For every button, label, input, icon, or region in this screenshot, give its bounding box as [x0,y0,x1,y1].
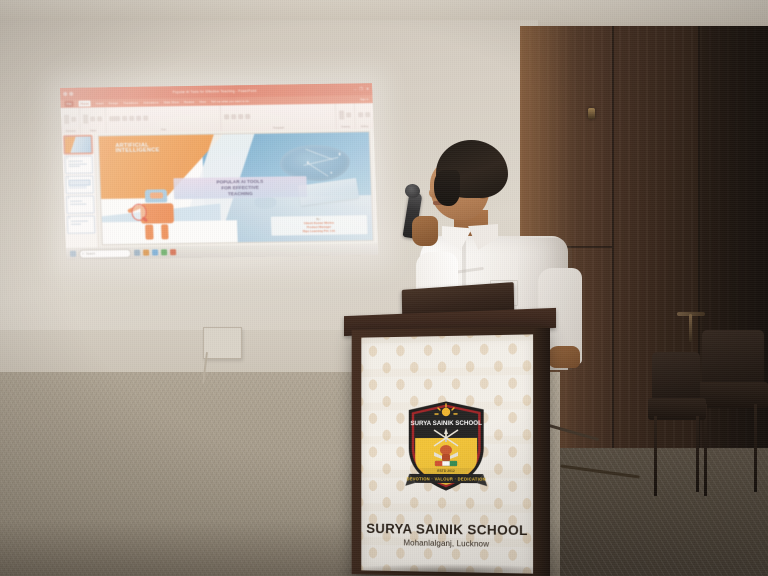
shape-fill-icon[interactable] [346,112,351,117]
powerpoint-icon[interactable] [170,249,176,255]
share-button[interactable]: Sign in [360,97,369,101]
crest-motto-text: DEVOTION · VALOUR · DEDICATION [407,476,486,481]
slide-thumbnail[interactable]: 4 [66,195,95,213]
underline-icon[interactable] [143,116,148,121]
slide-headline-line3: TEACHING [177,190,304,198]
ribbon-group-editing[interactable]: Editing [355,103,374,129]
tab-home[interactable]: Home [78,101,90,107]
replace-icon[interactable] [365,112,370,117]
podium-side [532,328,550,576]
presenter-left-hand [412,216,438,246]
ribbon-group-paragraph[interactable]: Paragraph [221,104,337,132]
slide-thumbnail-panel[interactable]: 1 2 3 4 5 [62,133,99,247]
slide-headline-box: POPULAR AI TOOLS FOR EFFECTIVE TEACHING [173,176,307,199]
slide-title: ARTIFICIAL INTELLIGENCE [115,143,159,155]
ribbon-group-label: Editing [359,125,371,128]
search-input[interactable]: ⌕ Search [79,248,131,258]
reset-icon[interactable] [97,116,102,121]
excel-icon[interactable] [161,249,167,255]
podium-floor-shadow [334,564,564,576]
tab-insert[interactable]: Insert [96,101,104,105]
slide-number: 1 [66,138,67,140]
slide-title-line2: INTELLIGENCE [115,149,159,156]
shapes-icon[interactable] [339,111,344,120]
search-icon: ⌕ [82,252,84,256]
chair [648,352,708,502]
wall-rail-bracket [689,314,692,342]
podium: SURYA SAINIK SCHOOL ESTD [344,300,556,576]
explorer-icon[interactable] [143,250,149,256]
tab-review[interactable]: Review [184,100,194,104]
ribbon-group-label: Clipboard [65,130,77,133]
crest-school-text: SURYA SAINIK SCHOOL [411,420,483,427]
tab-design[interactable]: Design [109,101,119,105]
slide-thumbnail[interactable]: 2 [64,155,93,173]
tab-file[interactable]: File [64,101,73,107]
minimize-icon[interactable]: – [354,87,356,91]
school-crest-svg: SURYA SAINIK SCHOOL ESTD [404,400,488,493]
font-size-box[interactable] [122,116,127,121]
slide-number: 4 [68,198,69,200]
podium-banner: SURYA SAINIK SCHOOL ESTD [361,334,533,573]
italic-icon[interactable] [136,116,141,121]
podium-school-name: SURYA SAINIK SCHOOL [361,521,533,538]
slide-thumbnail[interactable]: 3 [65,175,94,193]
slide-credit-box: By:- Udesh Kumar Mishra Product Manager … [271,216,367,236]
tab-animations[interactable]: Animations [143,100,158,104]
powerpoint-body: 1 2 3 4 5 [62,129,378,248]
tab-transitions[interactable]: Transitions [123,101,138,105]
ribbon-group-drawing[interactable]: Drawing [336,103,356,129]
ribbon-group-label: Slides [84,129,103,132]
ribbon-group-font[interactable]: Font [106,105,222,133]
current-slide[interactable]: ARTIFICIAL INTELLIGENCE [98,131,374,245]
layout-icon[interactable] [90,116,95,121]
numbering-icon[interactable] [231,114,236,119]
ribbon-group-clipboard[interactable]: Clipboard [61,108,81,134]
edge-icon[interactable] [152,249,158,255]
taskview-icon[interactable] [134,250,140,256]
school-crest: SURYA SAINIK SCHOOL ESTD [404,400,488,493]
paste-icon[interactable] [64,115,69,124]
search-placeholder: Search [86,251,95,255]
slide-number: 3 [67,178,68,180]
slide-number: 2 [67,158,68,160]
ribbon-group-slides[interactable]: Slides [80,107,107,133]
powerpoint-window[interactable]: Popular AI Tools for Effective Teaching … [60,83,378,260]
slide-number: 5 [69,218,70,220]
crest-established-text: ESTD 2012 [437,469,455,473]
door-handle-icon[interactable] [588,108,595,119]
cut-icon[interactable] [71,117,76,122]
new-slide-icon[interactable] [83,115,88,124]
maximize-icon[interactable]: ❐ [359,87,363,91]
save-icon[interactable] [63,92,67,96]
bullets-icon[interactable] [224,114,229,119]
start-icon[interactable] [70,251,76,257]
font-name-box[interactable] [109,116,120,121]
tell-me-box[interactable]: Tell me what you want to do [211,99,249,104]
wall-outlet [203,327,242,359]
slide-thumbnail[interactable]: 1 [64,135,93,153]
presenter-hair-side [434,170,460,206]
slide-editing-area[interactable]: ARTIFICIAL INTELLIGENCE [95,129,378,247]
align-left-icon[interactable] [238,114,243,119]
tab-view[interactable]: View [199,100,206,104]
window-title: Popular AI Tools for Effective Teaching … [75,87,354,95]
credit-company: Ripo Learning Pvt. Ltd. [273,228,365,233]
undo-icon[interactable] [69,92,73,96]
align-center-icon[interactable] [245,114,250,119]
tab-slide-show[interactable]: Slide Show [164,100,180,104]
close-icon[interactable]: ✕ [366,87,370,91]
projected-powerpoint-screen: Popular AI Tools for Effective Teaching … [60,83,378,260]
find-icon[interactable] [358,112,363,117]
bold-icon[interactable] [129,116,134,121]
presentation-room-photo: Popular AI Tools for Effective Teaching … [0,0,768,576]
ribbon-group-label: Drawing [340,125,352,128]
slide-thumbnail[interactable]: 5 [67,215,96,233]
